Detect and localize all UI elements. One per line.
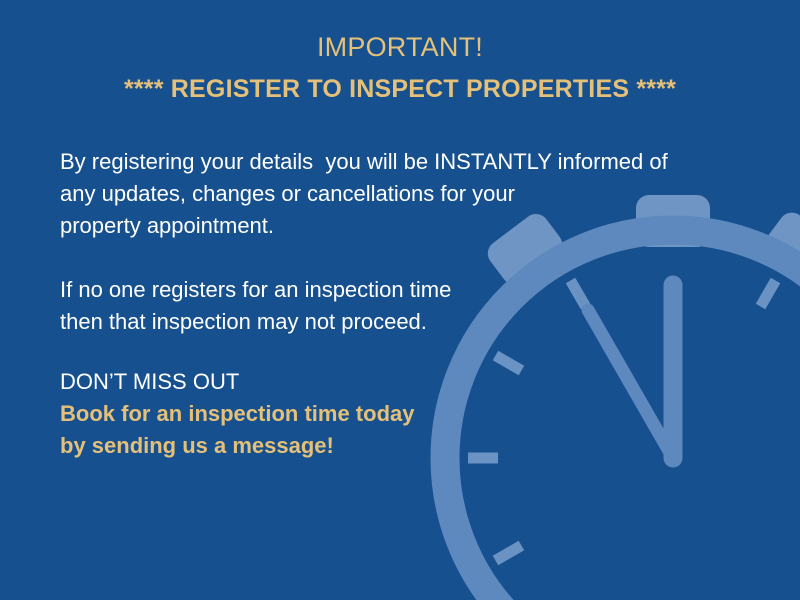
cta-lead-line: DON’T MISS OUT bbox=[60, 366, 414, 398]
cta-strong-line-1: Book for an inspection time today bbox=[60, 398, 414, 430]
cta-strong-line-2: by sending us a message! bbox=[60, 430, 414, 462]
call-to-action-block: DON’T MISS OUT Book for an inspection ti… bbox=[60, 366, 414, 462]
text-layer: IMPORTANT! **** REGISTER TO INSPECT PROP… bbox=[0, 0, 800, 600]
slide-canvas: IMPORTANT! **** REGISTER TO INSPECT PROP… bbox=[0, 0, 800, 600]
headline-primary: IMPORTANT! bbox=[0, 30, 800, 64]
headline-block: IMPORTANT! **** REGISTER TO INSPECT PROP… bbox=[0, 30, 800, 106]
body-paragraph-2: If no one registers for an inspection ti… bbox=[60, 274, 451, 338]
body-paragraph-1: By registering your details you will be … bbox=[60, 146, 668, 242]
headline-secondary: **** REGISTER TO INSPECT PROPERTIES **** bbox=[0, 72, 800, 106]
